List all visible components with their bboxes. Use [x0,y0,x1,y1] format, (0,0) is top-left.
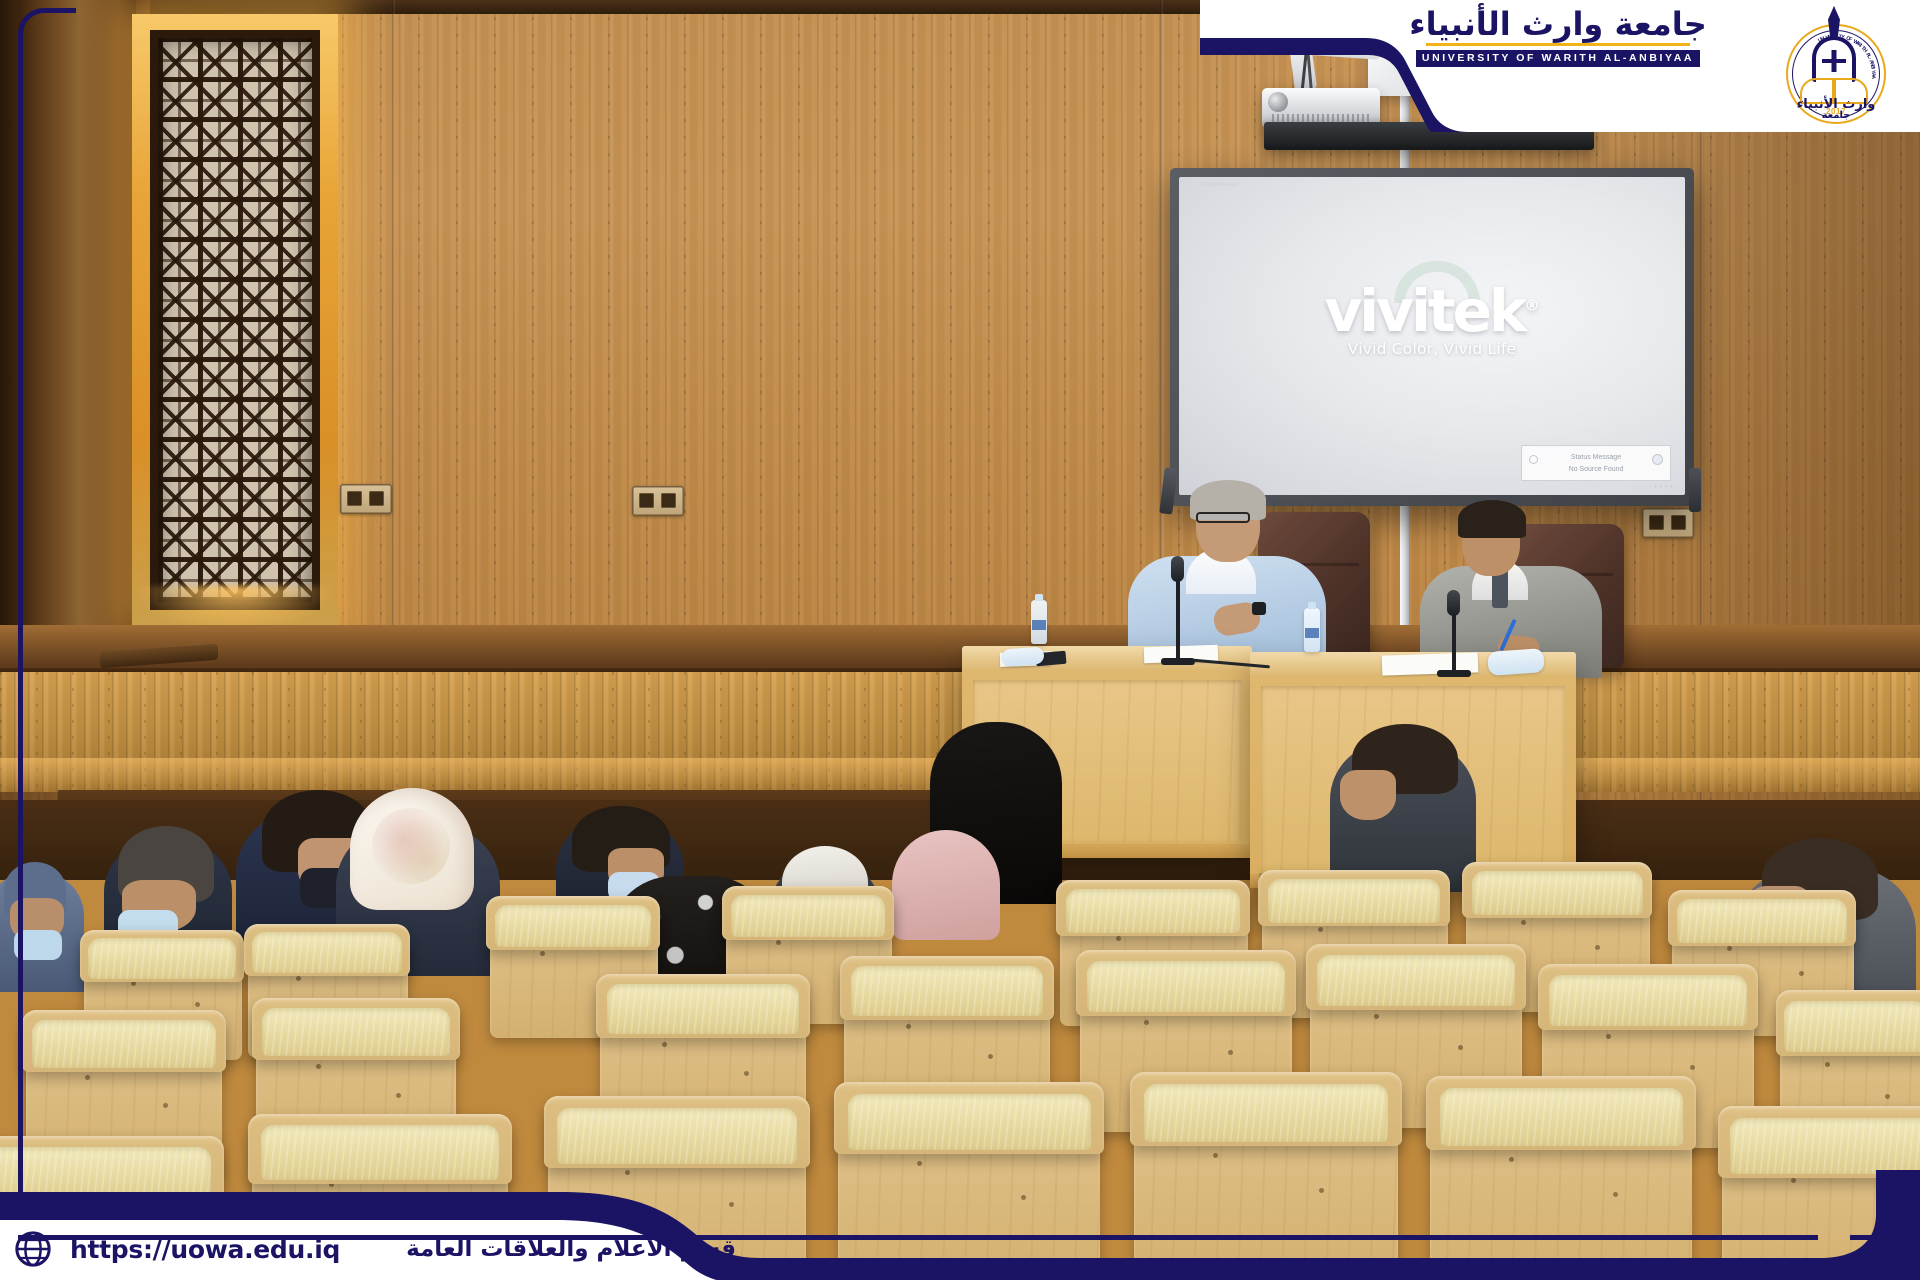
panelist-hair [1458,500,1526,538]
seat-fixing-dot [1458,1045,1463,1050]
water-bottle-right [1304,608,1320,652]
microphone-base-right [1437,670,1471,677]
photo-canvas: Promethean vivitek® Vivid Color, Vivid L… [0,0,1920,1280]
seat-cushion-row1-3[interactable] [486,896,660,950]
seat-cushion-row3-7[interactable] [1718,1106,1920,1178]
seat-fixing-dot [1374,1014,1379,1019]
status-message-box: Status Message No Source Found [1521,445,1671,481]
whiteboard-corner-ticks: ▪ ▪ ▪ ▪ [1655,484,1673,490]
seat-cushion-row3-3[interactable] [544,1096,810,1168]
seat-fixing-dot [1690,1065,1695,1070]
vivitek-logo: vivitek® Vivid Color, Vivid Life [1179,285,1685,358]
projector-mount-box [1368,24,1420,96]
whiteboard-brand-label: Promethean [1199,182,1239,188]
speaker-wristwatch [1252,602,1266,615]
seat-fixing-dot [988,1054,993,1059]
face-mask-worn [14,930,62,960]
seat-fixing-dot [1727,946,1732,951]
seat-cushion-row2-7[interactable] [1538,964,1758,1030]
seat-cushion-row1-5[interactable] [1056,880,1250,936]
seat-cushion-row1-4[interactable] [722,886,894,940]
wall-socket-center [632,486,684,516]
registered-mark: ® [1525,297,1540,315]
wall-socket-right [1642,508,1694,538]
seat-cushion-row3-6[interactable] [1426,1076,1696,1150]
microphone-head-right [1447,590,1460,616]
soundbar-speaker [1264,122,1594,150]
status-body: No Source Found [1522,464,1670,476]
face-mask-table-left [1001,647,1044,667]
vivitek-word-text: vivitek [1324,277,1524,345]
footer-banner: https://uowa.edu.iq قسم الاعلام والعلاقا… [0,1170,1920,1280]
seat-cushion-row2-6[interactable] [1306,944,1526,1010]
seat-fixing-dot [1318,927,1323,932]
seat-cushion-row2-4[interactable] [840,956,1054,1020]
whiteboard-stylus-right[interactable] [1689,468,1701,512]
seat-fixing-dot [744,1071,749,1076]
seat-fixing-dot [776,940,781,945]
vivitek-tagline: Vivid Color, Vivid Life [1179,340,1685,358]
department-name-arabic: قسم الاعلام والعلاقات العامة [406,1236,736,1262]
seat-cushion-row2-3[interactable] [596,974,810,1038]
seat-fixing-dot [662,1042,667,1047]
seat-cushion-row2-5[interactable] [1076,950,1296,1016]
seat-cushion-row2-2[interactable] [252,998,460,1060]
vivitek-wordmark: vivitek® [1179,285,1685,338]
seat-cushion-row2-1[interactable] [22,1010,226,1072]
mashrabiya-lattice-panel [158,38,312,602]
globe-icon [14,1230,52,1268]
attendee-face [1340,770,1396,820]
seat-fixing-dot [85,1075,90,1080]
wall-socket-left [340,484,392,514]
seat-cushion-row1-8[interactable] [1668,890,1856,946]
seat-fixing-dot [316,1064,321,1069]
seat-fixing-dot [1509,1157,1514,1162]
seat-fixing-dot [540,951,545,956]
seat-cushion-row3-5[interactable] [1130,1072,1402,1146]
face-mask-table-right [1487,648,1545,676]
attendee-pink-hijab [892,830,1000,940]
seat-fixing-dot [1213,1153,1218,1158]
seat-fixing-dot [1825,1062,1830,1067]
seat-cushion-row1-1[interactable] [80,930,244,982]
interactive-whiteboard[interactable]: Promethean vivitek® Vivid Color, Vivid L… [1170,168,1694,506]
microphone-base-left [1161,658,1195,665]
projection-surface: Promethean vivitek® Vivid Color, Vivid L… [1179,177,1685,495]
hijab-floral-embroidery [372,808,450,884]
seat-fixing-dot [1521,920,1526,925]
microphone-head-left [1171,556,1184,582]
seat-cushion-row2-8[interactable] [1776,990,1920,1056]
seat-fixing-dot [1116,936,1121,941]
seat-fixing-dot [1885,1094,1890,1099]
water-bottle-left [1031,600,1047,644]
seat-fixing-dot [1799,971,1804,976]
status-title: Status Message [1571,454,1621,461]
seat-fixing-dot [1595,945,1600,950]
seat-fixing-dot [906,1024,911,1029]
status-left-icon [1529,455,1538,464]
speaker-glasses [1196,512,1250,523]
footer-content: https://uowa.edu.iq قسم الاعلام والعلاقا… [0,1218,760,1280]
seat-fixing-dot [163,1103,168,1108]
seat-cushion-row1-2[interactable] [244,924,410,976]
seat-fixing-dot [1606,1034,1611,1039]
seat-fixing-dot [195,1002,200,1007]
status-right-icon [1652,454,1663,465]
seat-fixing-dot [1228,1050,1233,1055]
seat-fixing-dot [396,1093,401,1098]
seat-fixing-dot [1144,1020,1149,1025]
wall-pilaster [18,0,136,660]
seat-cushion-row3-4[interactable] [834,1082,1104,1154]
seat-fixing-dot [917,1161,922,1166]
website-url[interactable]: https://uowa.edu.iq [70,1235,340,1264]
seat-cushion-row1-6[interactable] [1258,870,1450,926]
seat-cushion-row1-7[interactable] [1462,862,1652,918]
seat-fixing-dot [296,976,301,981]
projector-lens [1268,92,1288,112]
